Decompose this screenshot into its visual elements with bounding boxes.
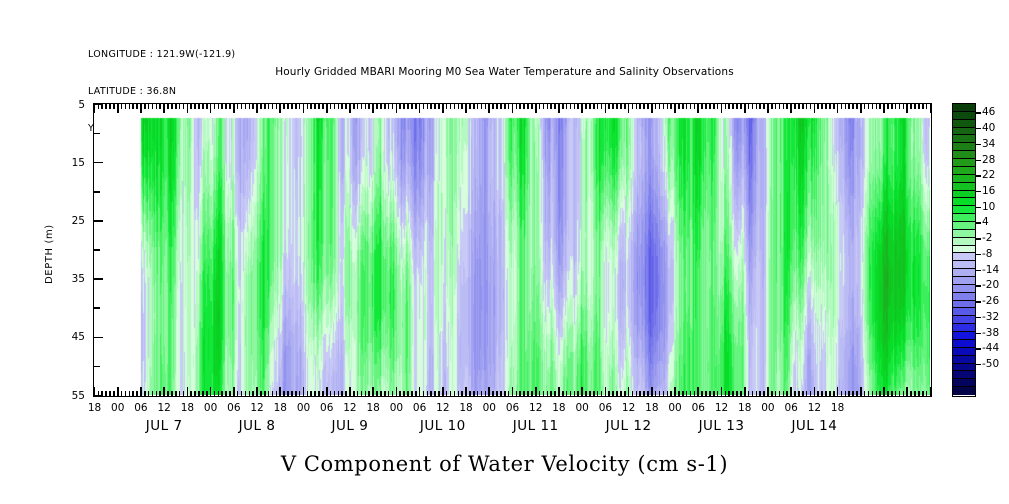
x-tick-minor [148, 391, 150, 396]
x-tick-minor [167, 391, 169, 396]
x-tick-top [531, 104, 533, 109]
colorbar-band [953, 246, 975, 254]
x-tick-top [365, 104, 367, 109]
x-tick-minor [307, 391, 309, 396]
x-hour-label: 06 [506, 402, 519, 414]
x-tick-minor [183, 391, 185, 396]
x-tick-minor [655, 391, 657, 396]
x-tick-top [252, 104, 254, 109]
colorbar-tick [976, 128, 981, 129]
x-tick-minor [241, 391, 243, 396]
x-tick-top [728, 104, 730, 109]
x-tick-top [117, 104, 119, 113]
colorbar-band [953, 151, 975, 159]
x-tick-minor [260, 391, 262, 396]
colorbar-label: 10 [982, 201, 995, 213]
x-tick-top [643, 104, 645, 109]
heatmap-canvas [94, 104, 930, 395]
x-tick-minor [562, 391, 564, 396]
x-hour-label: 12 [436, 402, 449, 414]
x-tick-top [376, 104, 378, 109]
x-hour-label: 00 [204, 402, 217, 414]
x-tick-top [438, 104, 440, 109]
x-tick-top [581, 104, 583, 113]
x-tick-top [558, 104, 560, 113]
x-tick-top [167, 104, 169, 109]
x-tick-minor [879, 391, 881, 396]
colorbar-band [953, 128, 975, 136]
x-tick-top [748, 104, 750, 109]
x-tick-minor [848, 391, 850, 396]
x-tick-top [353, 104, 355, 109]
x-tick-top [144, 104, 146, 109]
x-tick-minor [194, 391, 196, 396]
x-tick-minor [926, 391, 928, 396]
x-tick-minor [717, 391, 719, 396]
x-tick-top [829, 104, 831, 109]
x-tick-minor [415, 391, 417, 396]
colorbar-band [953, 293, 975, 301]
x-tick-top [550, 104, 552, 109]
x-tick-top [856, 104, 858, 109]
x-tick-major [117, 387, 119, 396]
colorbar-tick [976, 144, 981, 145]
x-tick-minor [434, 391, 436, 396]
x-tick-top [237, 104, 239, 109]
x-tick-top [705, 104, 707, 109]
x-hour-label: 00 [575, 402, 588, 414]
x-tick-top [864, 104, 866, 109]
x-tick-minor [728, 391, 730, 396]
x-tick-top [930, 104, 932, 113]
x-tick-minor [910, 391, 912, 396]
colorbar-tick [976, 175, 981, 176]
x-tick-minor [670, 391, 672, 396]
x-tick-major [814, 387, 816, 396]
colorbar-band [953, 316, 975, 324]
x-tick-top [218, 104, 220, 109]
x-tick-top [140, 104, 142, 113]
x-tick-minor [109, 391, 111, 396]
x-tick-minor [198, 391, 200, 396]
x-tick-top [152, 104, 154, 109]
x-tick-top [895, 104, 897, 109]
x-tick-minor [202, 391, 204, 396]
x-tick-minor [709, 391, 711, 396]
y-tick-major [94, 220, 103, 222]
colorbar-label: -20 [982, 279, 999, 291]
x-hour-label: 12 [808, 402, 821, 414]
x-tick-top [694, 104, 696, 109]
x-day-label: JUL 9 [332, 418, 369, 434]
x-tick-top [868, 104, 870, 109]
x-tick-minor [601, 391, 603, 396]
x-tick-minor [353, 391, 355, 396]
x-tick-top [775, 104, 777, 109]
x-tick-top [187, 104, 189, 113]
x-tick-major [605, 387, 607, 396]
colorbar-band [953, 222, 975, 230]
colorbar-band [953, 324, 975, 332]
x-tick-minor [841, 391, 843, 396]
x-tick-top [697, 104, 699, 113]
x-tick-minor [868, 391, 870, 396]
x-tick-minor [492, 391, 494, 396]
x-tick-top [577, 104, 579, 109]
x-tick-minor [469, 391, 471, 396]
x-tick-top [833, 104, 835, 109]
x-tick-top [779, 104, 781, 109]
chart-root: LONGITUDE : 121.9W(-121.9) LATITUDE : 36… [0, 0, 1009, 504]
y-tick-minor [94, 307, 100, 309]
x-tick-minor [458, 391, 460, 396]
x-tick-top [674, 104, 676, 113]
x-tick-minor [500, 391, 502, 396]
colorbar-band [953, 112, 975, 120]
x-tick-major [581, 387, 583, 396]
x-tick-minor [922, 391, 924, 396]
x-tick-top [527, 104, 529, 109]
colorbar-tick [976, 285, 981, 286]
x-hour-label: 00 [297, 402, 310, 414]
colorbar-label: 22 [982, 169, 995, 181]
x-tick-top [318, 104, 320, 109]
x-tick-minor [577, 391, 579, 396]
y-tick-label: 55 [59, 390, 85, 402]
x-tick-top [488, 104, 490, 113]
colorbar-band [953, 198, 975, 206]
x-tick-top [190, 104, 192, 109]
x-tick-minor [779, 391, 781, 396]
x-tick-top [492, 104, 494, 109]
x-tick-major [512, 387, 514, 396]
x-tick-top [136, 104, 138, 109]
chart-title: Hourly Gridded MBARI Mooring M0 Sea Wate… [0, 66, 1009, 78]
x-tick-minor [833, 391, 835, 396]
x-tick-top [450, 104, 452, 109]
x-tick-top [852, 104, 854, 109]
x-tick-top [159, 104, 161, 109]
x-tick-minor [740, 391, 742, 396]
x-tick-minor [218, 391, 220, 396]
x-hour-label: 00 [111, 402, 124, 414]
x-tick-top [403, 104, 405, 109]
colorbar-band [953, 175, 975, 183]
x-hour-label: 12 [250, 402, 263, 414]
x-day-label: JUL 10 [420, 418, 466, 434]
x-tick-minor [608, 391, 610, 396]
x-tick-major [303, 387, 305, 396]
x-tick-top [175, 104, 177, 109]
x-tick-top [620, 104, 622, 109]
x-tick-top [423, 104, 425, 109]
x-tick-top [481, 104, 483, 109]
x-tick-minor [318, 391, 320, 396]
y-tick-minor [94, 191, 100, 193]
x-day-label: JUL 7 [146, 418, 183, 434]
x-tick-minor [125, 391, 127, 396]
x-hour-label: 18 [645, 402, 658, 414]
x-tick-top [396, 104, 398, 113]
x-tick-minor [338, 391, 340, 396]
x-tick-top [477, 104, 479, 109]
x-tick-minor [713, 391, 715, 396]
x-tick-minor [101, 391, 103, 396]
colorbar-label: 4 [982, 216, 989, 228]
colorbar-band [953, 356, 975, 364]
x-tick-minor [817, 391, 819, 396]
y-tick-major [94, 162, 103, 164]
x-tick-top [879, 104, 881, 109]
x-tick-minor [144, 391, 146, 396]
x-tick-top [570, 104, 572, 109]
x-tick-minor [914, 391, 916, 396]
x-hour-label: 06 [227, 402, 240, 414]
x-tick-top [392, 104, 394, 109]
x-tick-major [558, 387, 560, 396]
y-tick-major [94, 278, 103, 280]
colorbar [952, 103, 976, 397]
x-tick-top [384, 104, 386, 109]
x-hour-label: 12 [343, 402, 356, 414]
x-tick-minor [508, 391, 510, 396]
x-tick-top [605, 104, 607, 113]
x-tick-top [148, 104, 150, 109]
x-tick-minor [585, 391, 587, 396]
x-tick-top [430, 104, 432, 109]
x-tick-minor [891, 391, 893, 396]
x-tick-minor [361, 391, 363, 396]
x-tick-major [465, 387, 467, 396]
y-tick-label: 25 [59, 215, 85, 227]
x-tick-minor [523, 391, 525, 396]
x-hour-label: 18 [366, 402, 379, 414]
x-tick-top [516, 104, 518, 109]
colorbar-band [953, 206, 975, 214]
x-tick-minor [299, 391, 301, 396]
colorbar-label: -32 [982, 311, 999, 323]
x-tick-major [628, 387, 630, 396]
x-tick-top [763, 104, 765, 109]
colorbar-label: -2 [982, 232, 992, 244]
colorbar-tick [976, 207, 981, 208]
x-tick-top [883, 104, 885, 113]
x-tick-top [295, 104, 297, 109]
x-tick-minor [392, 391, 394, 396]
x-tick-minor [786, 391, 788, 396]
x-tick-minor [802, 391, 804, 396]
x-tick-top [848, 104, 850, 109]
x-hour-label: 00 [761, 402, 774, 414]
x-tick-top [334, 104, 336, 109]
colorbar-band [953, 269, 975, 277]
x-tick-minor [291, 391, 293, 396]
x-tick-top [121, 104, 123, 109]
x-tick-top [198, 104, 200, 109]
x-tick-minor [214, 391, 216, 396]
x-tick-minor [411, 391, 413, 396]
x-tick-top [794, 104, 796, 109]
x-tick-top [512, 104, 514, 113]
x-tick-top [264, 104, 266, 109]
x-tick-top [132, 104, 134, 109]
x-tick-major [488, 387, 490, 396]
x-tick-top [547, 104, 549, 109]
x-tick-top [628, 104, 630, 113]
x-tick-top [249, 104, 251, 109]
x-tick-minor [322, 391, 324, 396]
x-tick-top [485, 104, 487, 109]
x-tick-minor [136, 391, 138, 396]
x-tick-top [194, 104, 196, 109]
x-tick-top [601, 104, 603, 109]
x-tick-minor [690, 391, 692, 396]
x-tick-top [98, 104, 100, 109]
x-tick-minor [810, 391, 812, 396]
x-tick-top [241, 104, 243, 109]
x-tick-top [589, 104, 591, 109]
x-day-label: JUL 11 [513, 418, 559, 434]
x-tick-minor [132, 391, 134, 396]
x-tick-major [906, 387, 908, 396]
x-hour-label: 18 [552, 402, 565, 414]
x-tick-top [845, 104, 847, 109]
x-tick-minor [345, 391, 347, 396]
x-tick-top [659, 104, 661, 109]
x-tick-top [926, 104, 928, 109]
y-tick-label: 35 [59, 273, 85, 285]
colorbar-tick [976, 348, 981, 349]
x-tick-top [608, 104, 610, 109]
colorbar-band [953, 253, 975, 261]
x-tick-major [837, 387, 839, 396]
x-tick-major [697, 387, 699, 396]
x-tick-top [872, 104, 874, 109]
x-tick-minor [736, 391, 738, 396]
colorbar-label: -14 [982, 264, 999, 276]
x-tick-minor [527, 391, 529, 396]
colorbar-band [953, 135, 975, 143]
x-day-label: JUL 12 [606, 418, 652, 434]
x-tick-top [767, 104, 769, 113]
x-tick-minor [399, 391, 401, 396]
x-hour-label: 18 [88, 402, 101, 414]
colorbar-label: 46 [982, 106, 995, 118]
x-tick-minor [485, 391, 487, 396]
x-tick-top [454, 104, 456, 109]
x-tick-minor [763, 391, 765, 396]
x-tick-top [206, 104, 208, 109]
x-tick-minor [504, 391, 506, 396]
x-tick-major [883, 387, 885, 396]
x-tick-minor [543, 391, 545, 396]
x-tick-minor [550, 391, 552, 396]
x-tick-top [458, 104, 460, 109]
x-tick-top [535, 104, 537, 113]
x-tick-top [407, 104, 409, 109]
x-tick-minor [249, 391, 251, 396]
x-tick-top [94, 104, 96, 113]
x-tick-top [322, 104, 324, 109]
x-tick-minor [368, 391, 370, 396]
x-tick-top [221, 104, 223, 109]
x-tick-top [810, 104, 812, 109]
x-tick-minor [314, 391, 316, 396]
x-tick-minor [245, 391, 247, 396]
x-tick-top [125, 104, 127, 109]
x-tick-top [554, 104, 556, 109]
x-tick-top [906, 104, 908, 113]
x-tick-minor [446, 391, 448, 396]
x-tick-minor [798, 391, 800, 396]
x-tick-top [721, 104, 723, 113]
y-axis-title: DEPTH (m) [44, 224, 55, 284]
x-hour-label: 18 [181, 402, 194, 414]
x-tick-minor [156, 391, 158, 396]
x-tick-top [639, 104, 641, 109]
x-tick-minor [206, 391, 208, 396]
x-tick-top [419, 104, 421, 113]
x-tick-top [612, 104, 614, 109]
x-tick-top [922, 104, 924, 109]
x-tick-minor [450, 391, 452, 396]
y-tick-minor [94, 249, 100, 251]
x-tick-top [349, 104, 351, 113]
colorbar-label: 16 [982, 185, 995, 197]
colorbar-band [953, 104, 975, 112]
x-tick-top [461, 104, 463, 109]
x-tick-major [256, 387, 258, 396]
x-tick-top [914, 104, 916, 109]
x-tick-major [279, 387, 281, 396]
x-tick-major [163, 387, 165, 396]
x-tick-minor [682, 391, 684, 396]
x-tick-top [682, 104, 684, 109]
x-tick-minor [825, 391, 827, 396]
x-tick-top [725, 104, 727, 109]
x-tick-minor [496, 391, 498, 396]
y-tick-minor [94, 133, 100, 135]
latitude-text: LATITUDE : 36.8N [88, 86, 235, 98]
x-tick-minor [430, 391, 432, 396]
x-tick-top [225, 104, 227, 109]
x-tick-top [368, 104, 370, 109]
x-tick-minor [783, 391, 785, 396]
x-tick-top [307, 104, 309, 109]
x-tick-major [860, 387, 862, 396]
x-tick-minor [388, 391, 390, 396]
x-tick-minor [539, 391, 541, 396]
x-tick-minor [678, 391, 680, 396]
x-tick-minor [903, 391, 905, 396]
x-tick-major [94, 387, 96, 396]
x-tick-top [272, 104, 274, 109]
x-tick-top [790, 104, 792, 113]
x-tick-major [187, 387, 189, 396]
x-tick-minor [752, 391, 754, 396]
colorbar-band [953, 348, 975, 356]
x-tick-top [504, 104, 506, 109]
x-tick-minor [105, 391, 107, 396]
x-tick-minor [694, 391, 696, 396]
x-hour-label: 00 [390, 402, 403, 414]
x-tick-major [744, 387, 746, 396]
x-tick-minor [570, 391, 572, 396]
x-tick-minor [864, 391, 866, 396]
x-tick-minor [473, 391, 475, 396]
x-tick-minor [756, 391, 758, 396]
x-tick-top [903, 104, 905, 109]
